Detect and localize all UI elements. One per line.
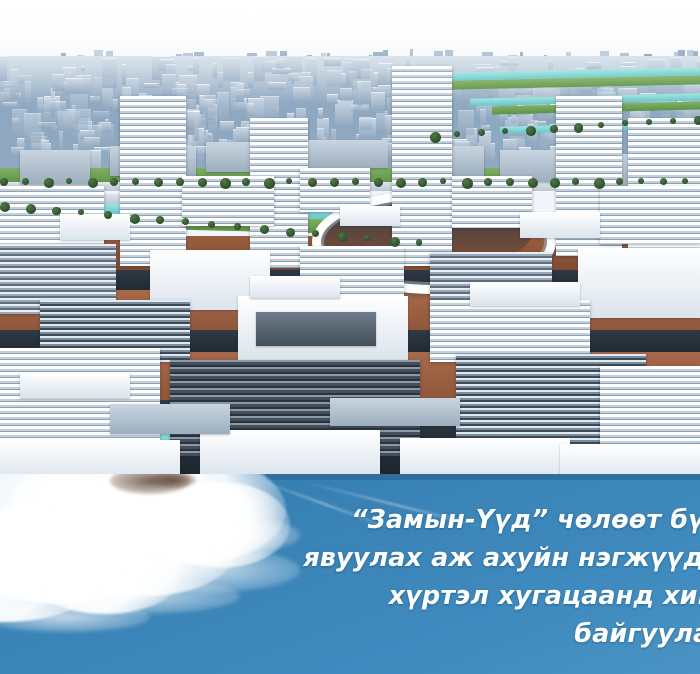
far-building <box>268 82 286 90</box>
building <box>200 430 380 476</box>
tree <box>234 223 241 230</box>
tree <box>44 178 54 188</box>
far-building <box>548 60 553 69</box>
far-building <box>217 92 229 122</box>
far-building <box>208 133 212 138</box>
tree <box>440 178 446 184</box>
tree <box>198 178 207 187</box>
far-building <box>351 105 355 112</box>
tree <box>574 123 583 132</box>
far-building <box>144 83 158 88</box>
far-building <box>194 111 199 141</box>
far-building <box>10 69 19 99</box>
building <box>520 212 600 238</box>
far-building <box>193 58 199 74</box>
far-building <box>248 72 253 88</box>
tree <box>660 178 667 185</box>
tree <box>0 202 10 212</box>
tree <box>220 178 231 189</box>
building <box>296 140 388 168</box>
far-building <box>288 73 299 81</box>
far-building <box>327 70 342 87</box>
tree <box>646 119 652 125</box>
tree <box>182 218 189 225</box>
far-building <box>93 111 109 119</box>
building <box>392 66 452 266</box>
far-building <box>318 108 323 119</box>
caption-text-block: “Замын-Үүд” чөлөөт бүсэд явуулах аж ахуй… <box>0 474 700 674</box>
tree <box>526 126 536 136</box>
far-building <box>349 71 357 89</box>
tree <box>286 178 292 184</box>
far-building <box>200 95 204 114</box>
building <box>340 206 400 226</box>
far-building <box>3 102 17 107</box>
tree <box>52 207 61 216</box>
caption-line-1: “Замын-Үүд” чөлөөт бүсэд <box>351 505 700 535</box>
far-building <box>327 94 338 104</box>
building <box>20 150 90 184</box>
tree <box>572 178 579 185</box>
building <box>578 248 700 318</box>
tree <box>286 228 295 237</box>
far-building <box>371 92 385 113</box>
city-masterplan-render <box>0 0 700 500</box>
tree <box>550 178 560 188</box>
far-building <box>236 89 250 98</box>
far-building <box>38 122 56 128</box>
tree <box>130 214 140 224</box>
far-building <box>230 87 236 108</box>
far-building <box>38 98 56 112</box>
far-building <box>81 66 85 71</box>
building <box>430 300 590 362</box>
building <box>470 282 580 306</box>
far-building <box>340 88 352 101</box>
tree <box>308 178 317 187</box>
far-building <box>0 56 7 81</box>
far-building <box>480 109 486 126</box>
tree <box>78 209 84 215</box>
caption-line-2: явуулах аж ахуйн нэгжүүдий <box>303 543 700 573</box>
tree <box>594 178 605 189</box>
far-building <box>52 74 64 91</box>
far-building <box>293 87 310 102</box>
far-building <box>246 103 254 116</box>
slide-canvas: “Замын-Үүд” чөлөөт бүсэд явуулах аж ахуй… <box>0 0 700 674</box>
tree <box>418 178 427 187</box>
tree <box>0 178 8 186</box>
building <box>20 372 130 398</box>
far-building <box>223 58 240 81</box>
far-building <box>511 115 517 123</box>
building <box>110 404 230 434</box>
tree <box>374 178 383 187</box>
far-building <box>58 109 75 132</box>
far-building <box>213 63 217 78</box>
far-building <box>220 121 234 132</box>
far-building <box>218 72 223 88</box>
tree <box>338 232 347 241</box>
far-building <box>12 109 27 137</box>
far-building <box>105 119 109 132</box>
far-building <box>324 58 341 66</box>
far-building <box>84 137 100 147</box>
tree <box>502 128 508 134</box>
far-building <box>360 117 372 130</box>
far-building <box>341 73 346 89</box>
far-building <box>102 58 117 88</box>
building <box>600 186 700 244</box>
far-building <box>458 110 474 135</box>
tree <box>694 116 700 124</box>
tree <box>110 178 118 186</box>
far-building <box>206 99 218 115</box>
caption-line-3: хүртэл хугацаанд хийсэ <box>389 581 700 611</box>
far-building <box>65 78 82 93</box>
building <box>256 312 376 346</box>
building <box>60 214 130 240</box>
far-building <box>94 77 102 98</box>
tree <box>598 122 604 128</box>
building <box>330 398 460 426</box>
tree <box>462 178 473 189</box>
tree <box>416 239 422 245</box>
tree <box>352 178 359 185</box>
far-building <box>276 59 285 69</box>
tree <box>506 178 514 186</box>
caption-line-4: байгуулалт <box>574 619 700 649</box>
tree <box>154 178 163 187</box>
caption-banner: “Замын-Үүд” чөлөөт бүсэд явуулах аж ахуй… <box>0 474 700 674</box>
far-building <box>122 64 126 85</box>
tree <box>396 178 406 188</box>
tree <box>682 178 688 184</box>
far-building <box>254 56 265 81</box>
building <box>250 276 340 298</box>
tree <box>208 221 215 228</box>
tree <box>550 125 558 133</box>
far-building <box>25 81 31 105</box>
